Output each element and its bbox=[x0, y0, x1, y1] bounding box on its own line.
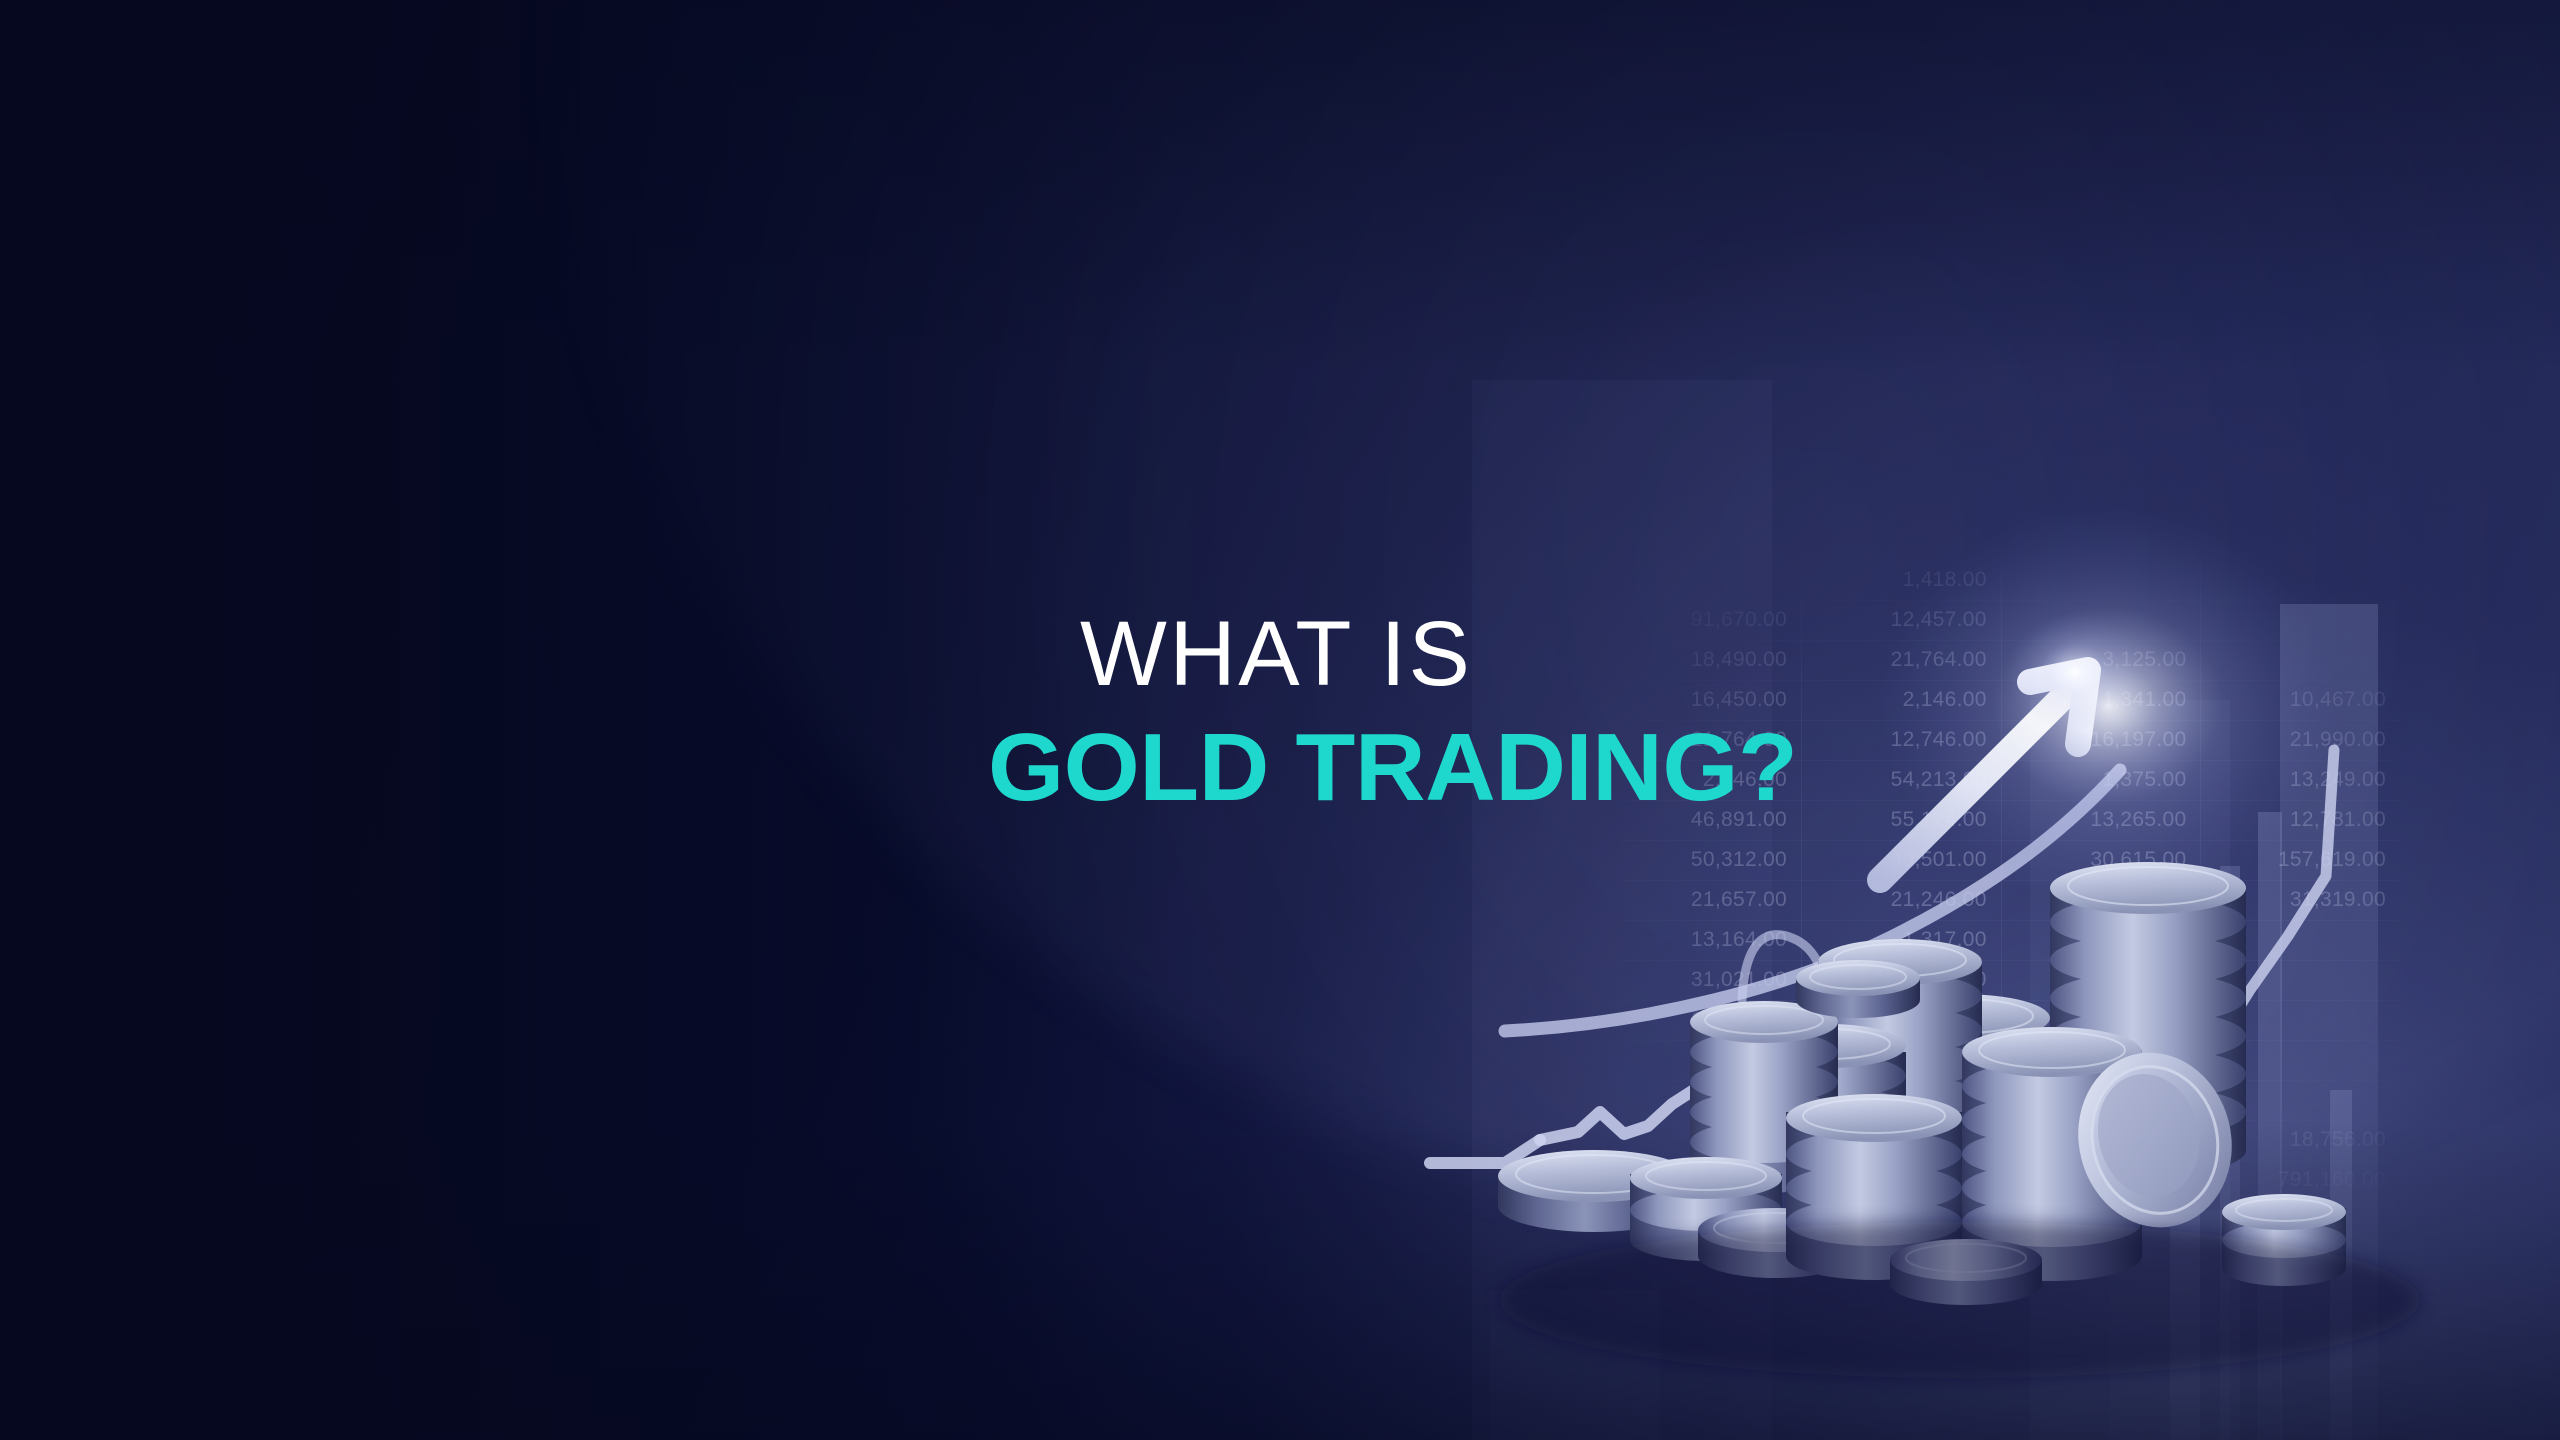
headline-line-2: GOLD TRADING? bbox=[988, 720, 2102, 816]
single-coin bbox=[1796, 960, 1920, 1018]
banner-canvas: 1,418.0091,670.0012,457.0018,490.0021,76… bbox=[0, 0, 2560, 1440]
page-title: WHAT IS GOLD TRADING? bbox=[1080, 608, 2080, 816]
headline-line-1: WHAT IS bbox=[1080, 608, 2080, 700]
